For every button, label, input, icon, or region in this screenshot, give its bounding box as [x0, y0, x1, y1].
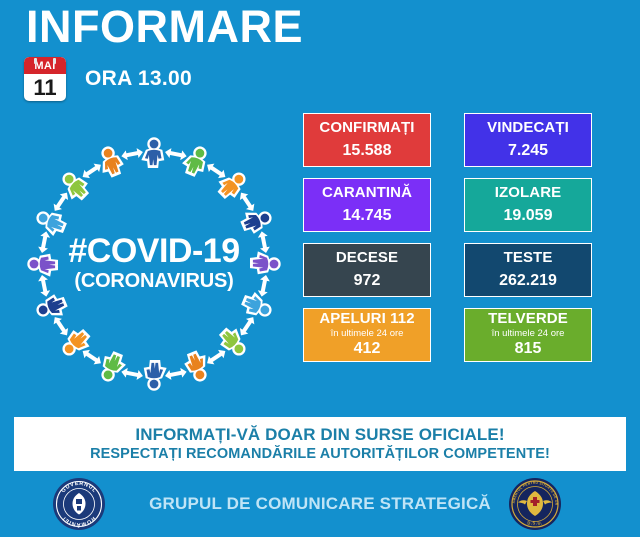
stat-label: DECESE — [336, 250, 398, 267]
calendar-month: MAI — [24, 57, 66, 74]
double-arrow-icon — [237, 190, 258, 214]
person-figure-icon — [146, 362, 165, 390]
official-sources-banner: INFORMAȚI-VĂ DOAR DIN SURSE OFICIALE! RE… — [14, 417, 626, 471]
banner-line-1: INFORMAȚI-VĂ DOAR DIN SURSE OFICIALE! — [135, 425, 504, 445]
double-arrow-icon — [120, 147, 144, 161]
stat-card-telverde: TELVERDEîn ultimele 24 ore815 — [464, 308, 592, 362]
calendar-icon: MAI 11 — [24, 57, 66, 101]
stat-value: 815 — [515, 340, 542, 358]
stat-card-vindeca-i: VINDECAȚI7.245 — [464, 113, 592, 167]
person-figure-icon — [98, 351, 126, 384]
person-figure-icon — [182, 144, 210, 177]
stat-card-teste: TESTE262.219 — [464, 243, 592, 297]
stat-label: VINDECAȚI — [487, 120, 569, 137]
stat-value: 7.245 — [508, 142, 548, 160]
guvernul-romaniei-seal-icon: GUVERNUL ROMÂNIEI — [52, 477, 106, 531]
double-arrow-icon — [80, 347, 104, 368]
banner-line-2: RESPECTAȚI RECOMANDĂRILE AUTORITĂȚILOR C… — [90, 446, 550, 463]
double-arrow-icon — [37, 230, 51, 254]
stat-label: TELVERDE — [488, 311, 568, 328]
double-arrow-icon — [120, 367, 144, 381]
stat-value: 14.745 — [343, 207, 392, 225]
stat-card-izolare: IZOLARE19.059 — [464, 178, 592, 232]
stat-label: CARANTINĂ — [322, 185, 412, 202]
double-arrow-icon — [80, 161, 104, 182]
people-circle-icon: #COVID-19 (CORONAVIRUS) — [14, 122, 294, 407]
stat-note: în ultimele 24 ore — [492, 329, 565, 339]
person-figure-icon — [29, 256, 57, 275]
stat-value: 15.588 — [343, 142, 392, 160]
double-arrow-icon — [51, 190, 72, 214]
stat-value: 262.219 — [499, 272, 557, 290]
dsu-eagle-seal-icon: DEPARTAMENTUL PENTRU SITUAȚII DE URGENȚĂ… — [508, 477, 562, 531]
stat-label: APELURI 112 — [319, 311, 414, 328]
double-arrow-icon — [164, 367, 188, 381]
statistics-grid: CONFIRMAȚI15.588VINDECAȚI7.245CARANTINĂ1… — [303, 113, 621, 362]
stat-value: 412 — [354, 340, 381, 358]
stat-label: IZOLARE — [495, 185, 562, 202]
double-arrow-icon — [204, 347, 228, 368]
stat-label: TESTE — [504, 250, 553, 267]
svg-text:D.S.U.: D.S.U. — [527, 521, 542, 526]
stat-card-carantin: CARANTINĂ14.745 — [303, 178, 431, 232]
person-figure-icon — [240, 206, 273, 234]
double-arrow-icon — [237, 314, 258, 338]
person-figure-icon — [35, 293, 68, 321]
double-arrow-icon — [51, 314, 72, 338]
person-figure-icon — [96, 145, 124, 178]
double-arrow-icon — [257, 274, 271, 298]
stat-card-decese: DECESE972 — [303, 243, 431, 297]
calendar-day: 11 — [24, 74, 66, 101]
date-time-row: MAI 11 ORA 13.00 — [24, 57, 192, 101]
person-figure-icon — [34, 208, 67, 236]
time-label: ORA 13.00 — [85, 67, 192, 91]
person-figure-icon — [183, 350, 211, 383]
double-arrow-icon — [37, 274, 51, 298]
stat-note: în ultimele 24 ore — [331, 329, 404, 339]
footer: GRUPUL DE COMUNICARE STRATEGICĂ GUVERNUL… — [0, 471, 640, 537]
stat-value: 19.059 — [504, 207, 553, 225]
page-title: INFORMARE — [26, 2, 303, 52]
person-figure-icon — [252, 254, 280, 273]
stat-card-confirma-i: CONFIRMAȚI15.588 — [303, 113, 431, 167]
stat-card-apeluri-112: APELURI 112în ultimele 24 ore412 — [303, 308, 431, 362]
stat-label: CONFIRMAȚI — [319, 120, 414, 137]
double-arrow-icon — [204, 161, 228, 182]
double-arrow-icon — [257, 230, 271, 254]
person-figure-icon — [144, 139, 163, 167]
stat-value: 972 — [354, 272, 381, 290]
double-arrow-icon — [164, 147, 188, 161]
covid-info-poster: INFORMARE MAI 11 ORA 13.00 #COVID-19 (CO… — [0, 0, 640, 537]
person-figure-icon — [241, 292, 274, 320]
